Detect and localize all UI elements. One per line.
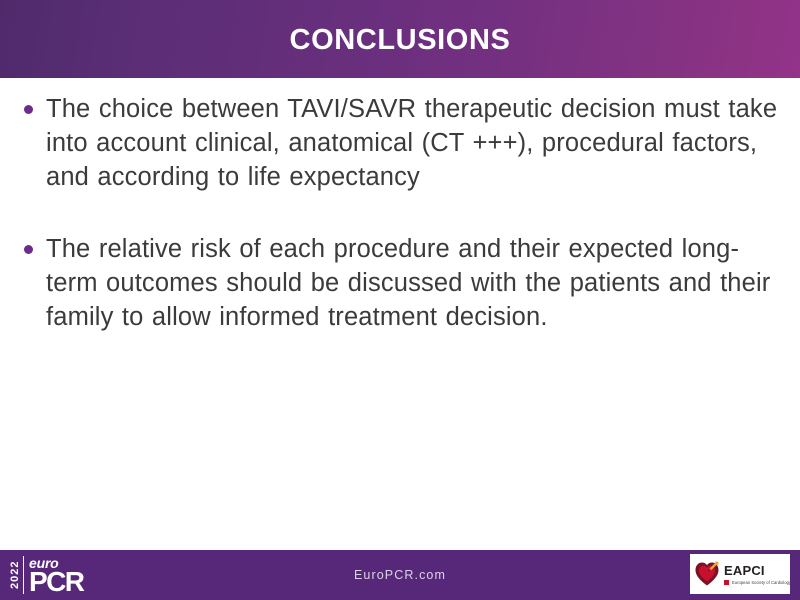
heart-icon [694, 561, 720, 587]
bullet-dot-icon [24, 245, 33, 254]
esc-mark-icon [724, 580, 729, 585]
bullet-list: The choice between TAVI/SAVR therapeutic… [16, 92, 784, 334]
page-title: CONCLUSIONS [290, 24, 511, 55]
bullet-text: The choice between TAVI/SAVR therapeutic… [46, 92, 784, 194]
eapci-logo: EAPCI European Society of Cardiology [690, 554, 790, 594]
footer-url-text: EuroPCR.com [354, 568, 446, 582]
bullet-dot-icon [24, 105, 33, 114]
eapci-name: EAPCI [724, 564, 791, 577]
list-item: The relative risk of each procedure and … [16, 232, 784, 334]
slide-header: CONCLUSIONS [0, 0, 800, 78]
slide-body: The choice between TAVI/SAVR therapeutic… [0, 78, 800, 550]
list-item: The choice between TAVI/SAVR therapeutic… [16, 92, 784, 194]
footer-url: EuroPCR.com [0, 550, 800, 600]
bullet-text: The relative risk of each procedure and … [46, 232, 784, 334]
eapci-texts: EAPCI European Society of Cardiology [724, 564, 791, 585]
slide-footer: 2022 euro PCR EuroPCR.com [0, 550, 800, 600]
slide: CONCLUSIONS The choice between TAVI/SAVR… [0, 0, 800, 600]
eapci-subtitle: European Society of Cardiology [732, 580, 791, 585]
eapci-subtitle-row: European Society of Cardiology [724, 580, 791, 585]
